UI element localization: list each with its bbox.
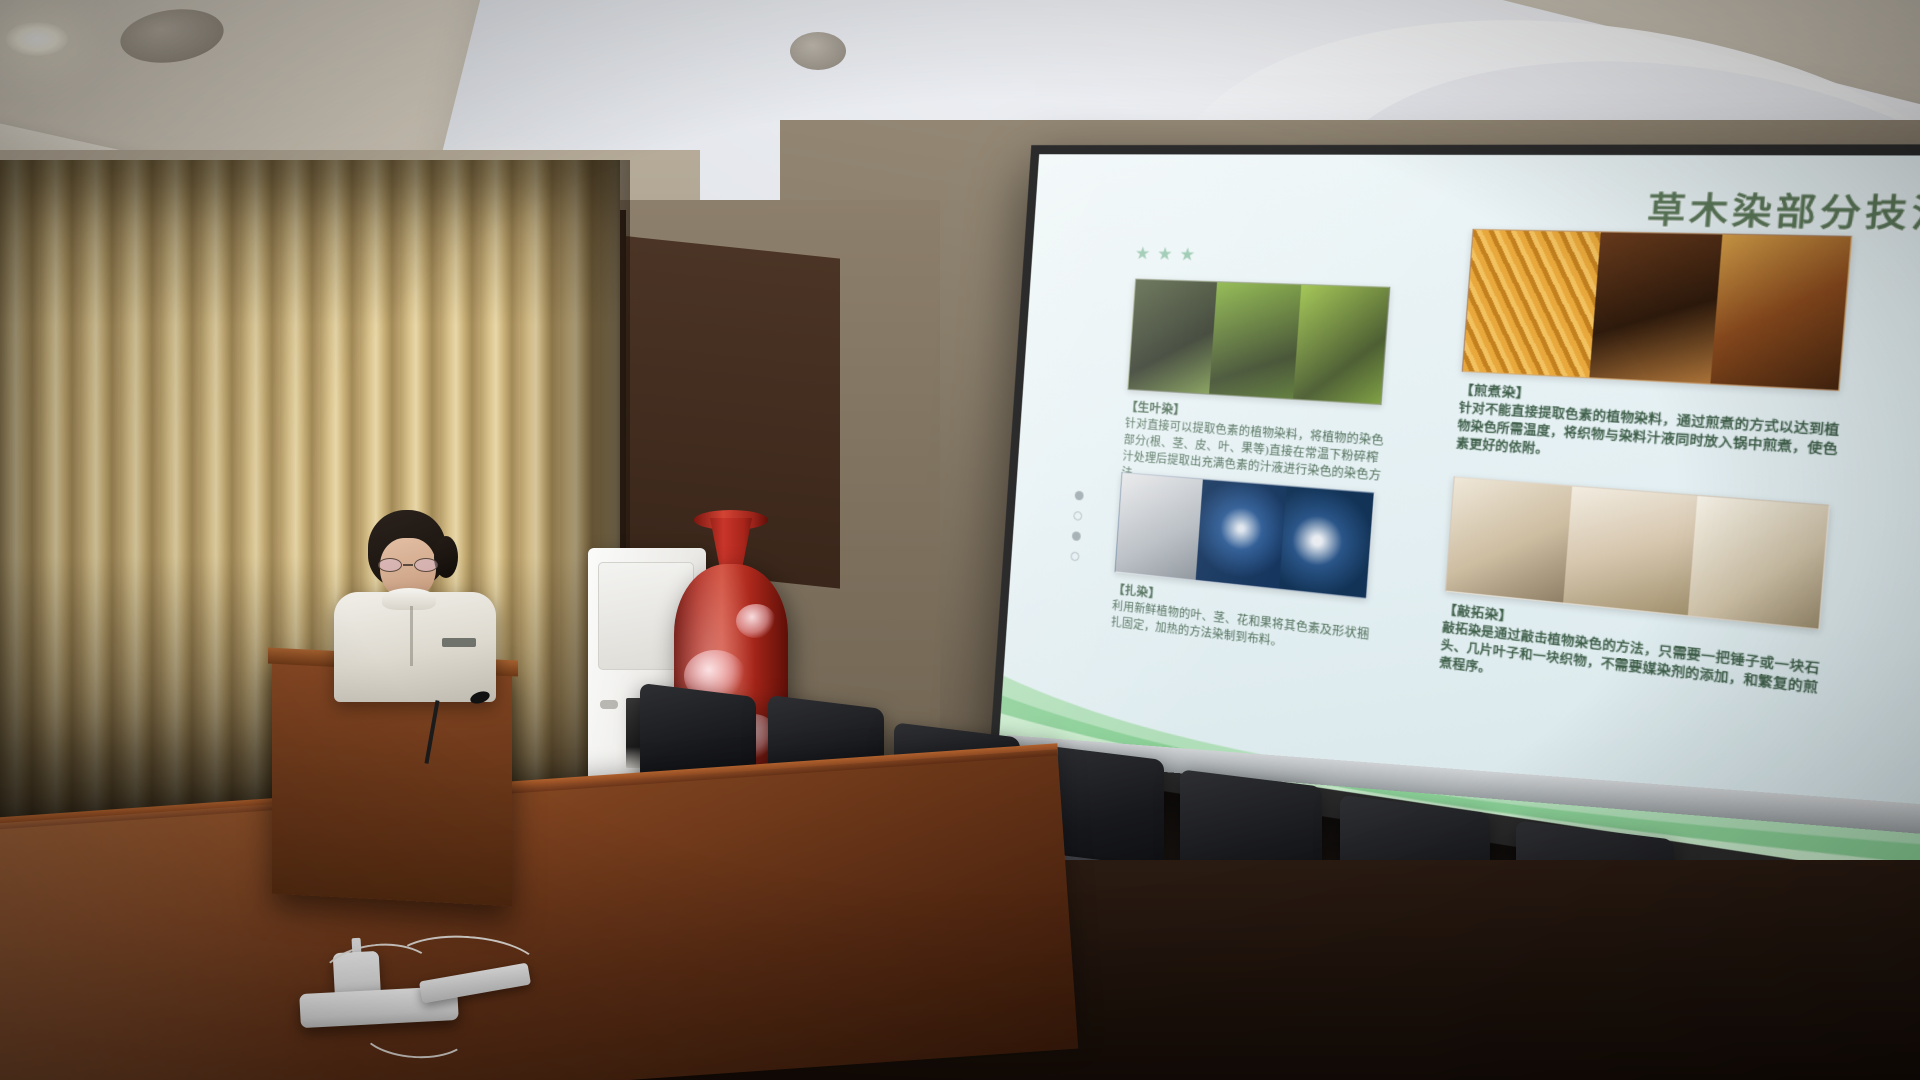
glasses-lens-left (378, 558, 402, 572)
slide-dot-decoration (1070, 491, 1084, 562)
ceiling-speaker-2 (790, 32, 846, 70)
dot-hollow-icon (1070, 551, 1079, 561)
presenter-glasses (378, 558, 438, 572)
conference-room-photo: 草木染部分技法介绍 ★ ★ ★ ★ ★ ★ 【生叶染 (0, 0, 1920, 1080)
cell-jian-zhu-ran-caption: 【煎煮染】 针对不能直接提取色素的植物染料，通过煎煮的方式以达到植物染色所需温度… (1455, 381, 1844, 481)
cell-jian-zhu-ran-photo (1462, 229, 1853, 391)
ac-knob (600, 700, 618, 709)
ceiling-speaker-1 (117, 3, 227, 69)
dot-filled-icon (1072, 531, 1081, 541)
presenter-collar (382, 588, 436, 610)
star-icon: ★ (1156, 244, 1173, 265)
star-icon: ★ (1134, 243, 1151, 264)
dot-hollow-icon (1073, 511, 1082, 521)
presenter (330, 510, 500, 700)
star-icon: ★ (1179, 244, 1196, 265)
cell-zha-ran-photo (1114, 472, 1374, 599)
vase-flower (736, 604, 776, 638)
glasses-bridge (403, 564, 413, 566)
presenter-jacket-logo (442, 638, 476, 647)
presenter-zipper (410, 606, 413, 666)
cell-sheng-ye-ran-photo (1127, 279, 1390, 406)
dot-filled-icon (1075, 491, 1084, 501)
stars-upper-left: ★ ★ ★ (1134, 243, 1196, 265)
ceiling-downlight-1 (6, 22, 68, 56)
glasses-lens-right (414, 558, 438, 572)
slide-title: 草木染部分技法介绍 (1646, 181, 1920, 240)
